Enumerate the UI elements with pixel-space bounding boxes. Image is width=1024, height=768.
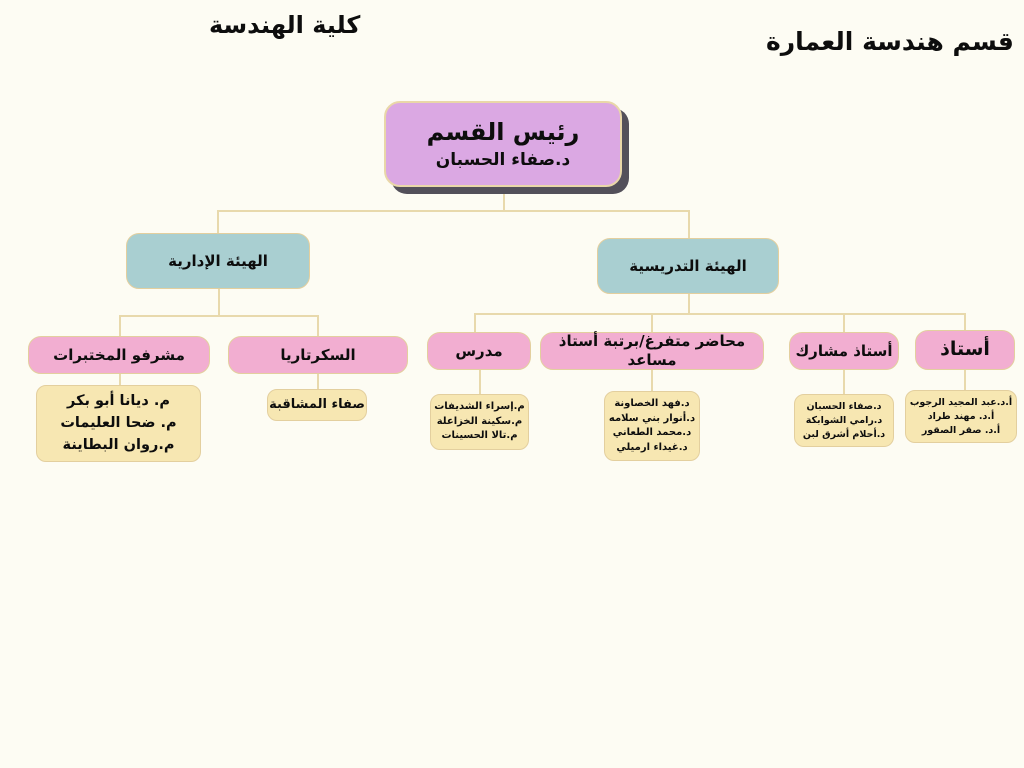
connector-administrative-bus (119, 315, 318, 317)
node-department-head-title: رئيس القسم (427, 117, 580, 147)
connector-lecturer-to-members (651, 370, 653, 392)
connector-professor-bus (843, 313, 965, 315)
node-department-head-person: د.صفاء الحسبان (436, 150, 570, 171)
member-name: د.فهد الخصاونة (614, 397, 689, 412)
member-name: أ.د. مهند طراد (928, 410, 994, 424)
connector-administrative-stem (218, 289, 220, 316)
member-list-secretariat: صفاء المشاقبة (267, 389, 367, 421)
member-name: م.تالا الحسينات (441, 429, 517, 444)
node-instructor[interactable]: مدرس (427, 332, 531, 370)
member-name: م.سكينة الخزاعلة (437, 415, 523, 430)
member-name: أ.د. صقر الصقور (922, 424, 1000, 438)
node-teaching-staff[interactable]: الهيئة التدريسية (597, 238, 779, 294)
connector-associate-professor-to-members (843, 370, 845, 395)
node-professor[interactable]: أستاذ (915, 330, 1015, 370)
member-list-professor: أ.د.عبد المجيد الرجوبأ.د. مهند طرادأ.د. … (905, 390, 1017, 443)
org-chart-canvas: كلية الهندسة قسم هندسة العمارة رئيس القس… (0, 0, 1024, 768)
connector-to-lecturer (651, 313, 653, 333)
connector-teaching-stem (688, 294, 690, 314)
node-administrative-staff[interactable]: الهيئة الإدارية (126, 233, 310, 289)
node-lab-supervisors[interactable]: مشرفو المختبرات (28, 336, 210, 374)
member-name: م.روان البطاينة (63, 435, 175, 457)
node-secretariat[interactable]: السكرتاريا (228, 336, 408, 374)
connector-level2-bus (217, 210, 689, 212)
member-name: د.صفاء الحسبان (806, 400, 881, 414)
connector-instructor-to-members (479, 370, 481, 395)
member-name: د.أنوار بني سلامه (609, 412, 695, 427)
node-lab-supervisors-label: مشرفو المختبرات (53, 346, 185, 365)
connector-to-secretariat (317, 315, 319, 337)
node-professor-label: أستاذ (940, 338, 990, 362)
member-name: صفاء المشاقبة (269, 395, 365, 415)
connector-to-lab-supervisors (119, 315, 121, 337)
connector-teaching-bus (474, 313, 844, 315)
member-name: د.محمد الطعاني (613, 426, 692, 441)
connector-secretariat-to-members (317, 374, 319, 390)
member-name: م. ضحا العليمات (60, 413, 176, 435)
member-list-instructor: م.إسراء الشديفاتم.سكينة الخزاعلةم.تالا ا… (430, 394, 529, 450)
member-name: أ.د.عبد المجيد الرجوب (910, 396, 1012, 410)
connector-to-associate-professor (843, 313, 845, 333)
member-list-lab-supervisors: م. ديانا أبو بكرم. ضحا العليماتم.روان ال… (36, 385, 201, 462)
connector-to-instructor (474, 313, 476, 333)
node-lecturer-label: محاضر متفرغ/برتبة أستاذ مساعد (541, 332, 763, 370)
node-teaching-staff-label: الهيئة التدريسية (629, 257, 747, 276)
node-lecturer[interactable]: محاضر متفرغ/برتبة أستاذ مساعد (540, 332, 764, 370)
page-title-college: كلية الهندسة (209, 12, 360, 38)
page-title-department: قسم هندسة العمارة (766, 28, 1014, 56)
connector-to-professor (964, 313, 966, 331)
node-associate-professor-label: أستاذ مشارك (795, 342, 892, 361)
node-secretariat-label: السكرتاريا (280, 346, 355, 365)
member-name: م.إسراء الشديفات (434, 400, 525, 415)
connector-root-stem (503, 187, 505, 211)
member-name: م. ديانا أبو بكر (67, 391, 170, 413)
node-department-head[interactable]: رئيس القسم د.صفاء الحسبان (384, 101, 622, 187)
node-administrative-staff-label: الهيئة الإدارية (168, 252, 268, 271)
member-name: د.أحلام أشرق لبن (803, 428, 885, 442)
member-list-lecturer: د.فهد الخصاونةد.أنوار بني سلامهد.محمد ال… (604, 391, 700, 461)
member-name: د.رامي الشوابكة (806, 414, 883, 428)
member-name: د.غيداء ارميلي (616, 441, 687, 456)
node-associate-professor[interactable]: أستاذ مشارك (789, 332, 899, 370)
connector-professor-to-members (964, 370, 966, 391)
node-instructor-label: مدرس (455, 342, 502, 361)
member-list-associate-professor: د.صفاء الحسباند.رامي الشوابكةد.أحلام أشر… (794, 394, 894, 447)
connector-to-administrative (217, 210, 219, 234)
connector-to-teaching (688, 210, 690, 239)
